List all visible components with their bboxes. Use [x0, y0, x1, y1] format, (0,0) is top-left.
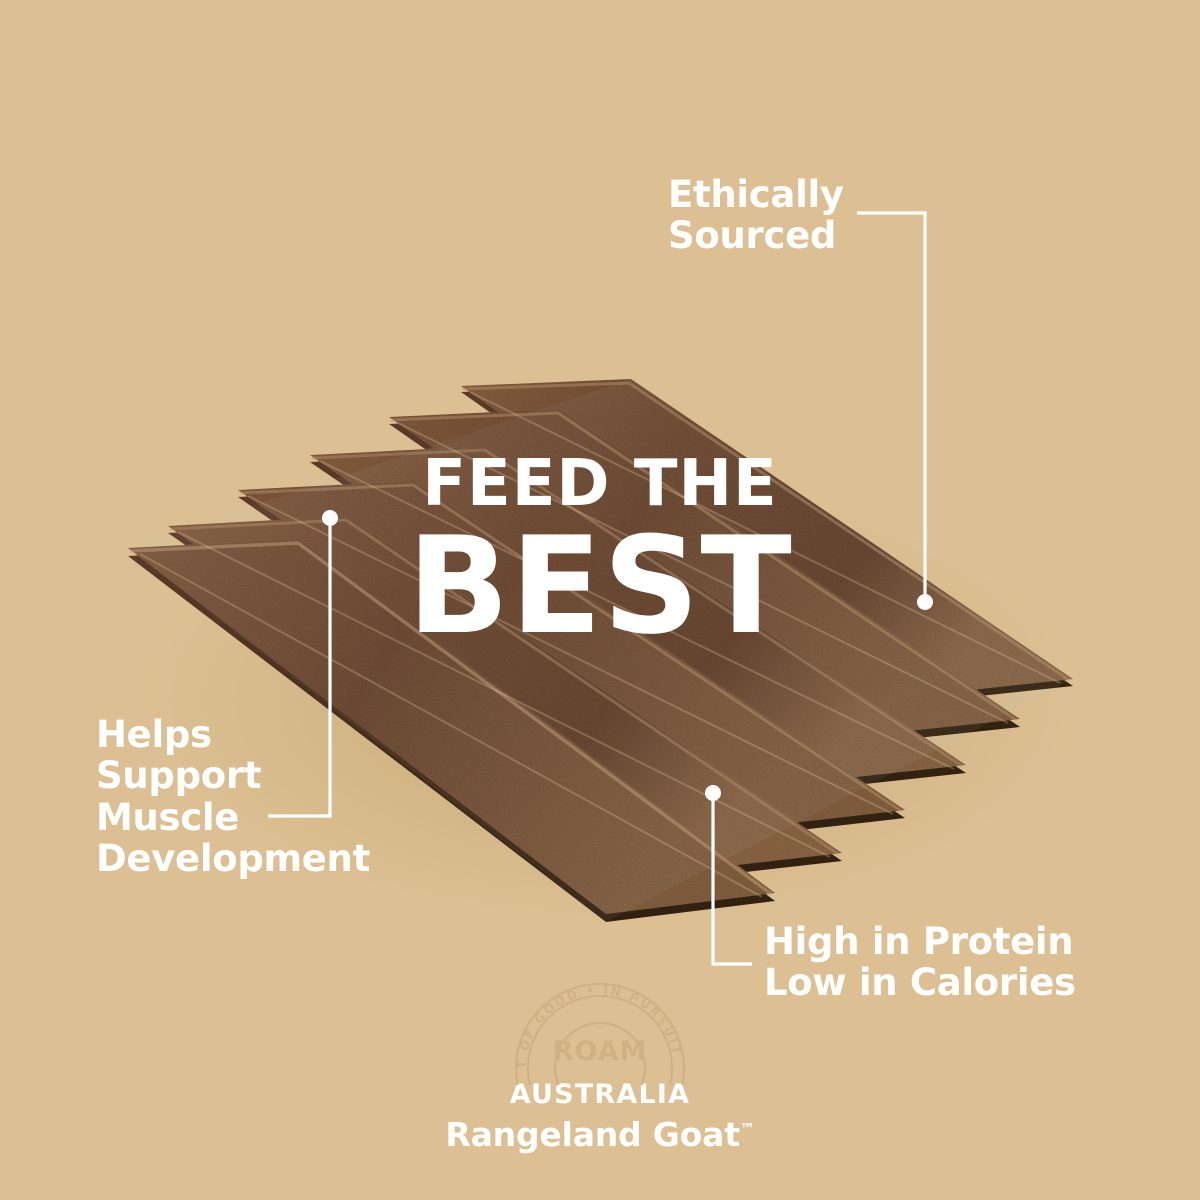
roam-seal-logo: IN PURSUIT OF GOOD • IN PURSUIT OF GOOD …	[505, 955, 695, 1085]
brand-block: IN PURSUIT OF GOOD • IN PURSUIT OF GOOD …	[0, 955, 1200, 1154]
brand-product-name: Rangeland Goat™	[0, 1115, 1200, 1154]
callout-label-muscle-development: Helps Support Muscle Development	[96, 714, 370, 880]
callout-label-ethically-sourced: Ethically Sourced	[668, 174, 844, 257]
trademark-symbol: ™	[740, 1120, 755, 1138]
poster-canvas: Ethically Sourced Helps Support Muscle D…	[0, 0, 1200, 1200]
seal-wordmark: ROAM	[553, 1036, 648, 1067]
brand-product-name-text: Rangeland Goat	[445, 1115, 739, 1154]
